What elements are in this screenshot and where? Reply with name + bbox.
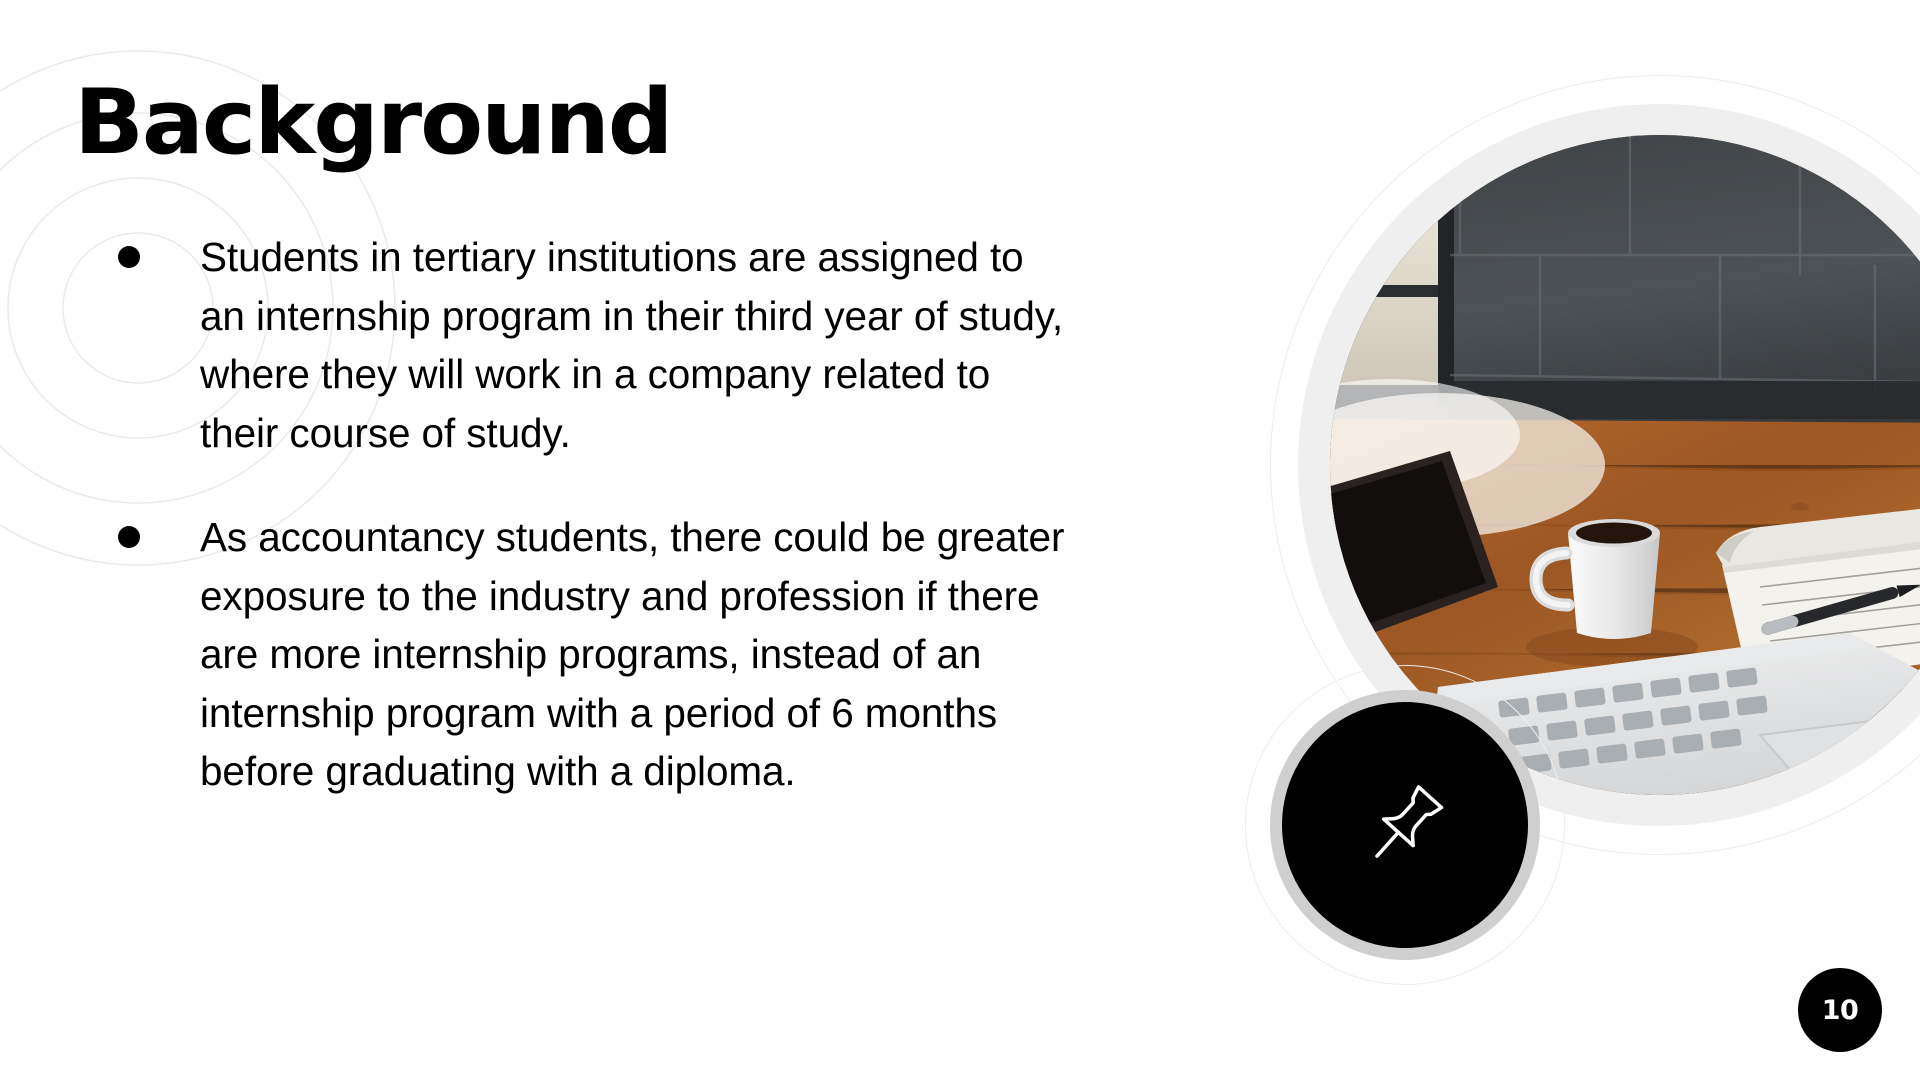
bullet-dot-icon	[118, 526, 140, 548]
bullet-dot-icon	[118, 246, 140, 268]
list-item: As accountancy students, there could be …	[118, 508, 1078, 801]
pin-badge	[1282, 702, 1528, 948]
slide-canvas: Background Students in tertiary institut…	[0, 0, 1920, 1080]
list-item-text: As accountancy students, there could be …	[200, 508, 1078, 801]
list-item: Students in tertiary institutions are as…	[118, 228, 1078, 462]
bullet-list: Students in tertiary institutions are as…	[118, 228, 1078, 847]
list-item-text: Students in tertiary institutions are as…	[200, 228, 1078, 462]
photo-cluster	[1020, 60, 1920, 960]
page-number-badge: 10	[1798, 968, 1882, 1052]
page-title: Background	[74, 74, 671, 171]
page-number: 10	[1822, 995, 1859, 1026]
pushpin-icon	[1350, 770, 1460, 880]
